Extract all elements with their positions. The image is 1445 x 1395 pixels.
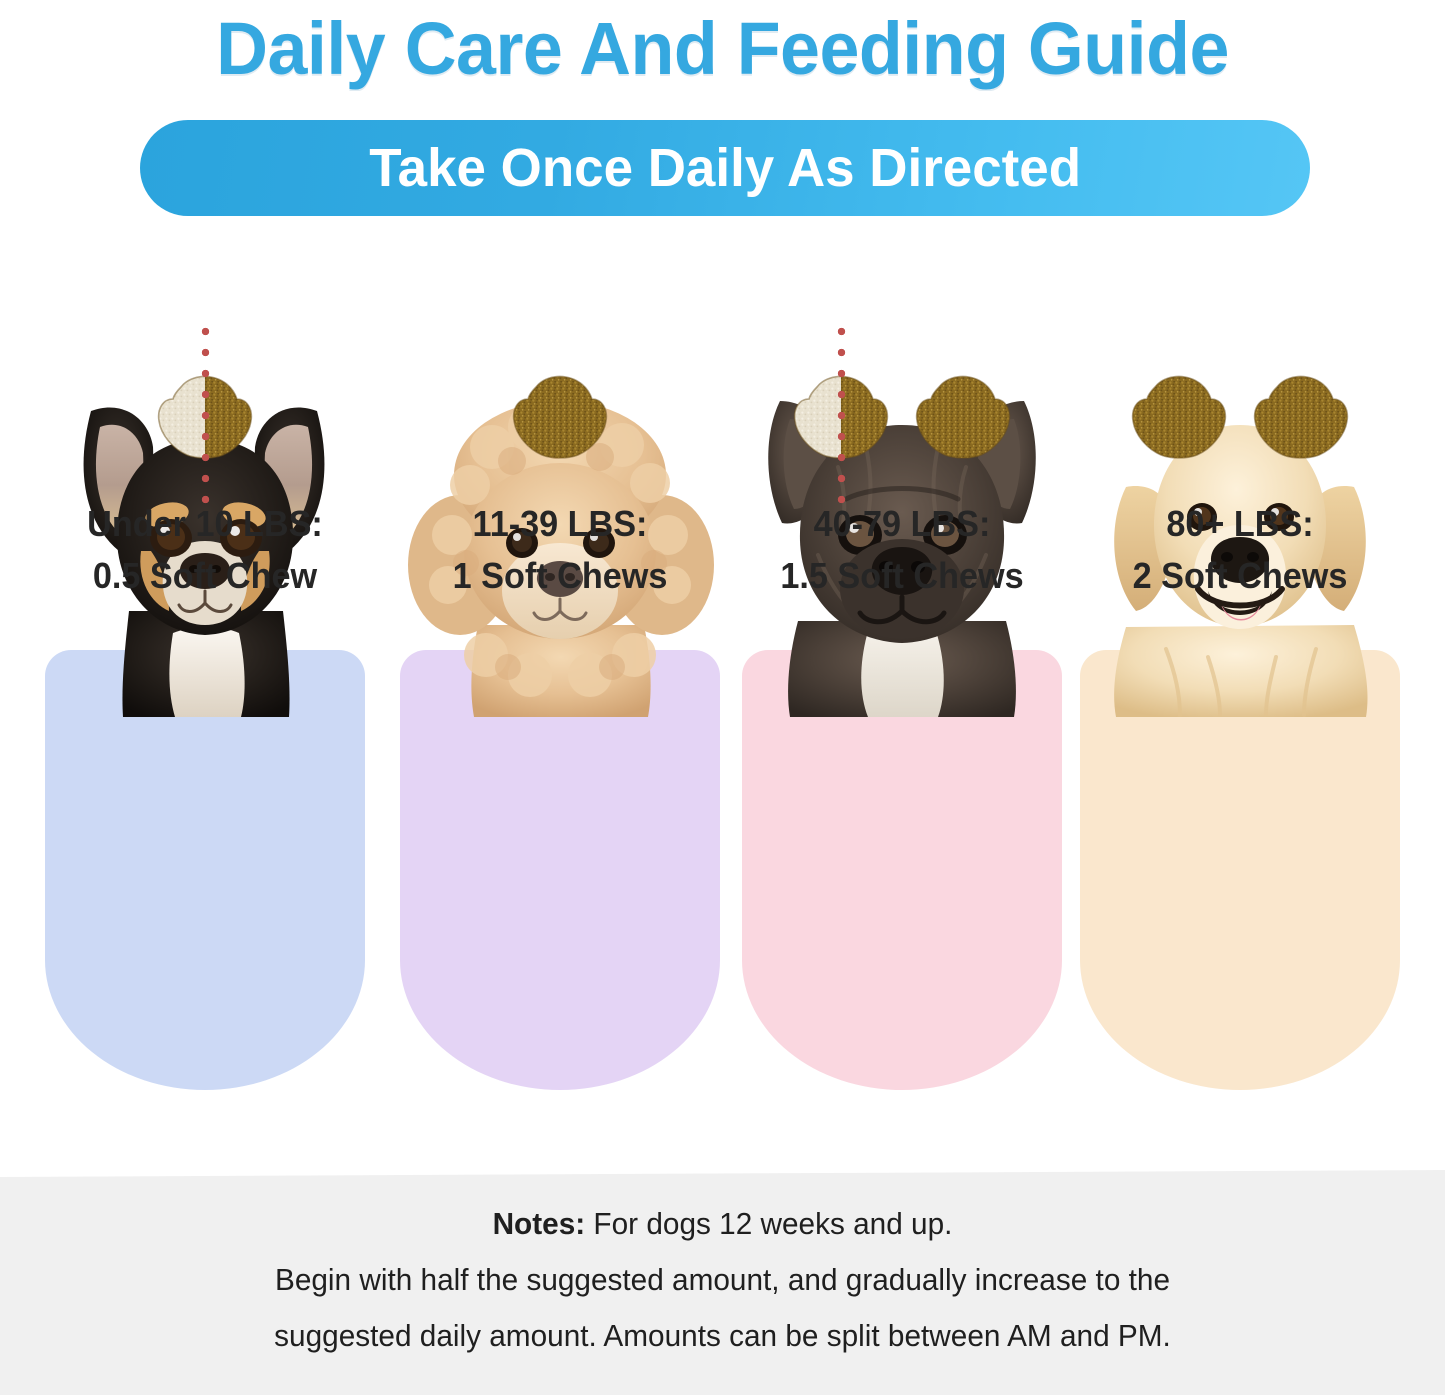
card-labels: 11-39 LBS: 1 Soft Chews [400, 498, 720, 602]
notes-label: Notes: [493, 1206, 586, 1241]
chew-half [789, 363, 893, 467]
chew-group [45, 340, 365, 490]
directions-pill: Take Once Daily As Directed [140, 120, 1310, 216]
card-labels: 80+ LBS: 2 Soft Chews [1080, 498, 1400, 602]
weight-range-label: 80+ LBS: [1088, 498, 1392, 550]
notes-line-1-rest: For dogs 12 weeks and up. [585, 1206, 952, 1241]
chew-full [1127, 363, 1231, 467]
notes-line-2: Begin with half the suggested amount, an… [29, 1252, 1416, 1308]
weight-range-label: 40-79 LBS: [750, 498, 1054, 550]
notes-line-1: Notes: For dogs 12 weeks and up. [29, 1196, 1416, 1252]
chew-half [153, 363, 257, 467]
header: Daily Care And Feeding Guide Take Once D… [0, 0, 1445, 240]
chew-full [508, 363, 612, 467]
notes-line-3: suggested daily amount. Amounts can be s… [29, 1308, 1416, 1364]
dose-label: 1.5 Soft Chews [750, 550, 1054, 602]
dose-card-40-79-lbs[interactable]: 40-79 LBS: 1.5 Soft Chews [742, 280, 1062, 1090]
dose-label: 0.5 Soft Chew [53, 550, 357, 602]
chew-group [1080, 340, 1400, 490]
chew-group [400, 340, 720, 490]
directions-label: Take Once Daily As Directed [369, 140, 1081, 196]
chew-full [911, 363, 1015, 467]
weight-range-label: Under 10 LBS: [53, 498, 357, 550]
cut-line-indicator [201, 321, 210, 511]
card-labels: Under 10 LBS: 0.5 Soft Chew [45, 498, 365, 602]
chew-group [742, 340, 1062, 490]
notes-text: Notes: For dogs 12 weeks and up. Begin w… [29, 1196, 1416, 1364]
cut-line-indicator [837, 321, 846, 511]
dose-card-11-39-lbs[interactable]: 11-39 LBS: 1 Soft Chews [400, 280, 720, 1090]
dosing-cards-row: Under 10 LBS: 0.5 Soft Chew [0, 280, 1445, 1090]
card-labels: 40-79 LBS: 1.5 Soft Chews [742, 498, 1062, 602]
dose-card-under-10-lbs[interactable]: Under 10 LBS: 0.5 Soft Chew [45, 280, 365, 1090]
chew-full [1249, 363, 1353, 467]
weight-range-label: 11-39 LBS: [408, 498, 712, 550]
dose-label: 1 Soft Chews [408, 550, 712, 602]
notes-band: Notes: For dogs 12 weeks and up. Begin w… [0, 1170, 1445, 1395]
page-title: Daily Care And Feeding Guide [22, 6, 1424, 92]
dose-card-80-plus-lbs[interactable]: 80+ LBS: 2 Soft Chews [1080, 280, 1400, 1090]
dose-label: 2 Soft Chews [1088, 550, 1392, 602]
